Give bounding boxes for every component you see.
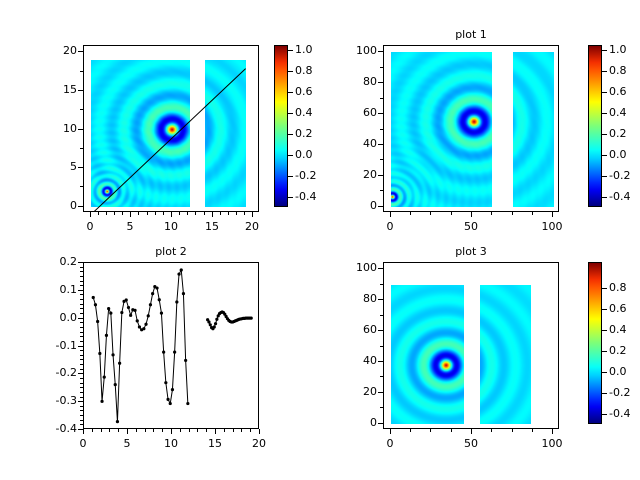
data-point-marker [100,400,103,403]
data-point-marker [214,322,217,325]
data-point-marker [207,320,210,323]
axis-tick [244,212,245,215]
axis-tick [98,212,99,215]
axis-tick [378,423,383,424]
data-point-marker [182,292,185,295]
axis-tick [80,285,83,286]
line-path [93,270,188,422]
line-series-group [84,263,259,429]
axis-tick [127,429,128,434]
heatmap-image-panel [513,52,554,207]
axis-tick [228,212,229,215]
xtick-label: 20 [239,437,279,450]
data-point-marker [136,319,139,322]
axis-tick [78,206,83,207]
data-point-marker [158,298,161,301]
axis-tick [78,346,83,347]
axis-tick [162,429,163,432]
xtick-label: 10 [151,220,191,233]
axis-tick [163,212,164,215]
data-point-marker [111,353,114,356]
axis-tick [430,212,431,215]
data-point-marker [155,286,158,289]
ytick-label: 20 [335,385,377,398]
axis-tick [78,373,83,374]
xtick-label: 100 [532,437,572,450]
xtick-label: 0 [370,437,410,450]
axis-tick [155,212,156,215]
axis-tick [171,429,172,434]
colorbar-tick-label: -0.2 [295,169,331,182]
axis-tick [78,129,83,130]
axis-tick [602,330,607,331]
axis-tick [145,429,146,432]
axis-tick [491,212,492,215]
axis-tick [378,330,383,331]
ytick-label: 0.0 [35,311,77,324]
data-point-marker [94,303,97,306]
data-point-marker [180,268,183,271]
axis-tick [80,313,83,314]
axis-tick [471,429,472,434]
axis-tick [380,159,383,160]
axis-tick [80,369,83,370]
axis-tick [80,406,83,407]
ytick-label: 80 [335,75,377,88]
ytick-label: 40 [335,137,377,150]
axis-tick [189,429,190,432]
axis-tick [106,212,107,215]
axis-tick [390,429,391,434]
ytick-label: -0.2 [35,366,77,379]
axis-tick [187,212,188,215]
data-point-marker [173,350,176,353]
axis-tick [288,92,293,93]
axis-tick [451,212,452,215]
axis-tick [130,212,131,217]
data-point-marker [125,298,128,301]
axis-tick [80,424,83,425]
xtick-label: 15 [195,437,235,450]
colorbar-tick-label: -0.4 [295,190,331,203]
axis-tick [236,212,237,215]
axis-tick [80,336,83,337]
axis-tick [80,294,83,295]
axis-tick [288,50,293,51]
colorbar-tick-label: -0.2 [609,386,640,399]
data-point-marker [142,327,145,330]
axis-tick [410,429,411,432]
axes-area-2[interactable] [83,262,259,429]
ytick-label: -0.1 [35,339,77,352]
data-point-marker [120,311,123,314]
axis-tick [380,407,383,408]
axis-tick [80,332,83,333]
axis-tick [491,429,492,432]
data-point-marker [250,317,253,320]
axis-tick [532,212,533,215]
colorbar-tick-label: -0.2 [609,169,640,182]
colorbar-tick-label: 0.0 [295,148,331,161]
axis-tick [78,401,83,402]
axis-tick [378,361,383,362]
xtick-label: 5 [107,437,147,450]
axis-tick [378,206,383,207]
axis-tick [380,98,383,99]
axis-tick [602,288,607,289]
data-point-marker [164,381,167,384]
axis-tick [80,109,83,110]
axis-tick [92,429,93,432]
data-point-marker [127,306,130,309]
axis-tick [378,51,383,52]
axis-tick [80,410,83,411]
data-point-marker [213,325,216,328]
axes-area-0[interactable] [83,45,259,212]
axis-tick [552,429,553,434]
data-point-marker [186,402,189,405]
colorbar-3 [588,262,602,424]
axis-tick [241,429,242,432]
axis-tick [78,51,83,52]
axis-tick [224,429,225,432]
axis-tick [378,268,383,269]
data-point-marker [149,303,152,306]
ytick-label: 20 [35,44,77,57]
ytick-label: 0.1 [35,283,77,296]
data-point-marker [169,402,172,405]
data-point-marker [147,314,150,317]
axis-tick [153,429,154,432]
data-point-marker [105,334,108,337]
axis-tick [602,176,607,177]
heatmap-image-panel [391,52,492,207]
axis-tick [147,212,148,215]
data-point-marker [209,323,212,326]
axis-tick [90,212,91,217]
axis-tick [197,429,198,432]
axis-tick [259,429,260,434]
data-point-marker [109,312,112,315]
data-point-marker [116,420,119,423]
axis-tick [212,212,213,217]
axis-tick [288,197,293,198]
axis-tick [288,71,293,72]
colorbar-tick-label: 0.6 [609,302,640,315]
colorbar-tick-label: 0.4 [295,106,331,119]
axis-tick [80,304,83,305]
axis-tick [380,67,383,68]
xtick-label: 100 [532,220,572,233]
axis-tick [233,429,234,432]
xtick-label: 5 [110,220,150,233]
xtick-label: 0 [63,437,103,450]
axis-tick [288,134,293,135]
xtick-label: 50 [451,220,491,233]
axis-tick [80,308,83,309]
axis-tick [380,346,383,347]
axis-tick [430,429,431,432]
ytick-label: 10 [35,122,77,135]
axis-tick [204,212,205,215]
colorbar-tick-label: 0.4 [609,106,640,119]
ytick-label: -0.3 [35,394,77,407]
colorbar-tick-label: 0.8 [609,281,640,294]
data-point-marker [133,309,136,312]
colorbar-tick-label: -0.4 [609,407,640,420]
axis-tick [380,376,383,377]
axis-tick [602,414,607,415]
colorbar-tick-label: -0.4 [609,190,640,203]
axis-tick [80,276,83,277]
data-point-marker [151,292,154,295]
data-point-marker [160,312,163,315]
axis-tick [80,148,83,149]
colorbar-gradient [275,46,287,206]
axis-tick [80,281,83,282]
axis-tick [602,372,607,373]
axis-tick [109,429,110,432]
ytick-label: 0 [335,416,377,429]
axis-tick [288,176,293,177]
axis-tick [380,284,383,285]
colorbar-tick-label: 0.6 [609,85,640,98]
colorbar-0 [274,45,288,207]
heatmap-image-panel [205,60,246,207]
axis-tick [206,429,207,432]
axis-tick [602,309,607,310]
axis-tick [378,113,383,114]
subplot-title-3: plot 3 [383,245,559,258]
axis-tick [288,155,293,156]
xtick-label: 0 [70,220,110,233]
ytick-label: 0 [335,199,377,212]
ytick-label: 40 [335,354,377,367]
data-point-marker [107,307,110,310]
axis-tick [215,429,216,434]
xtick-label: 15 [192,220,232,233]
axis-tick [101,429,102,432]
axis-tick [80,359,83,360]
data-point-marker [129,314,132,317]
ytick-label: 20 [335,168,377,181]
axis-tick [80,327,83,328]
xtick-label: 0 [370,220,410,233]
figure-canvas: 05101520051015201.00.80.60.40.20.0-0.2-0… [0,0,640,480]
axis-tick [602,71,607,72]
ytick-label: -0.4 [35,422,77,435]
axis-tick [552,212,553,217]
colorbar-tick-label: 0.2 [609,127,640,140]
subplot-title-2: plot 2 [83,245,259,258]
axis-tick [378,299,383,300]
axes-area-1[interactable] [383,45,559,212]
xtick-label: 10 [151,437,191,450]
xtick-label: 20 [232,220,272,233]
axis-tick [179,212,180,215]
axis-tick [80,71,83,72]
ytick-label: 60 [335,106,377,119]
colorbar-1 [588,45,602,207]
colorbar-tick-label: 0.0 [609,148,640,161]
data-point-marker [175,300,178,303]
axis-tick [378,144,383,145]
axis-tick [136,429,137,432]
ytick-label: 100 [335,44,377,57]
ytick-label: 0.2 [35,255,77,268]
axis-tick [512,429,513,432]
axis-tick [78,290,83,291]
axis-tick [171,212,172,217]
data-point-marker [98,352,101,355]
data-point-marker [177,273,180,276]
axis-tick [451,429,452,432]
axis-tick [390,212,391,217]
data-point-marker [166,398,169,401]
data-point-marker [114,383,117,386]
colorbar-gradient [589,46,601,206]
axis-tick [602,393,607,394]
data-point-marker [144,323,147,326]
axis-tick [78,318,83,319]
axis-tick [180,429,181,432]
data-point-marker [215,318,218,321]
axis-tick [78,90,83,91]
axis-tick [602,113,607,114]
axis-tick [78,167,83,168]
axis-tick [380,315,383,316]
axis-tick [80,267,83,268]
axis-tick [250,429,251,432]
axis-tick [410,212,411,215]
ytick-label: 100 [335,261,377,274]
axis-tick [80,186,83,187]
axis-tick [80,383,83,384]
colorbar-tick-label: 0.6 [295,85,331,98]
heatmap-image-panel [480,285,531,424]
colorbar-tick-label: 1.0 [609,43,640,56]
axis-tick [378,82,383,83]
colorbar-tick-label: 0.8 [609,64,640,77]
xtick-label: 50 [451,437,491,450]
axis-tick [512,212,513,215]
axis-tick [80,387,83,388]
axes-area-3[interactable] [383,262,559,429]
axis-tick [602,197,607,198]
axis-tick [80,341,83,342]
axis-tick [80,392,83,393]
axis-tick [80,355,83,356]
data-point-marker [103,376,106,379]
axis-tick [602,134,607,135]
subplot-title-1: plot 1 [383,28,559,41]
data-point-marker [171,388,174,391]
axis-tick [220,212,221,215]
axis-tick [122,212,123,215]
colorbar-tick-label: 0.0 [609,365,640,378]
axis-tick [471,212,472,217]
axis-tick [83,429,84,434]
axis-tick [114,212,115,215]
ytick-label: 60 [335,323,377,336]
axis-tick [378,175,383,176]
colorbar-tick-label: 0.2 [609,344,640,357]
axis-tick [80,415,83,416]
axis-tick [602,155,607,156]
axis-tick [195,212,196,215]
axis-tick [380,190,383,191]
colorbar-tick-label: 0.2 [295,127,331,140]
axis-tick [80,322,83,323]
axis-tick [380,129,383,130]
axis-tick [602,50,607,51]
axis-tick [80,378,83,379]
axis-tick [80,420,83,421]
ytick-label: 0 [35,199,77,212]
data-point-marker [92,296,95,299]
data-point-marker [118,362,121,365]
axis-tick [80,350,83,351]
colorbar-gradient [589,263,601,423]
colorbar-tick-label: 1.0 [295,43,331,56]
axis-tick [118,429,119,432]
axis-tick [532,429,533,432]
axis-tick [80,299,83,300]
colorbar-tick-label: 0.4 [609,323,640,336]
data-point-marker [162,350,165,353]
ytick-label: 80 [335,292,377,305]
data-point-marker [184,359,187,362]
heatmap-image-panel [391,285,464,424]
data-point-marker [138,325,141,328]
axis-tick [80,271,83,272]
axis-tick [602,351,607,352]
colorbar-tick-label: 0.8 [295,64,331,77]
axis-tick [288,113,293,114]
axis-tick [78,262,83,263]
ytick-label: 15 [35,83,77,96]
axis-tick [602,92,607,93]
data-point-marker [96,320,99,323]
axis-tick [378,392,383,393]
axis-tick [80,397,83,398]
axis-tick [80,364,83,365]
axis-tick [138,212,139,215]
axis-tick [252,212,253,217]
ytick-label: 5 [35,160,77,173]
